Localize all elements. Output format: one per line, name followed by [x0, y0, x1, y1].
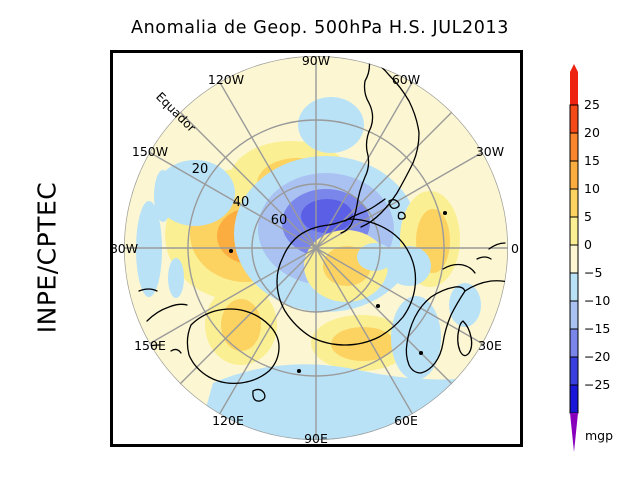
colorbar-tick-20: 20	[584, 125, 600, 140]
lon-label-60E: 60E	[394, 413, 418, 428]
colorbar-tick-0: 0	[584, 237, 592, 252]
lat-label-40: 40	[233, 195, 250, 210]
colorbar-tick-15: 15	[584, 153, 600, 168]
page-title: Anomalia de Geop. 500hPa H.S. JUL2013	[0, 18, 640, 38]
lat-label-20: 20	[192, 162, 209, 177]
colorbar-tick-m5: −5	[584, 265, 602, 280]
lon-label-30E: 30E	[478, 338, 502, 353]
colorbar-svg: 25 20 15 10 5 0 −5 −10 −15 −20 −25	[560, 60, 640, 460]
colorbar-tick-m25: −25	[584, 377, 610, 392]
colorbar-tick-labels: 25 20 15 10 5 0 −5 −10 −15 −20 −25	[584, 97, 610, 392]
colorbar-unit-label: mgp	[585, 428, 613, 443]
anomaly-negative-southeast-pacific	[298, 97, 364, 153]
screenshot-root: Anomalia de Geop. 500hPa H.S. JUL2013 IN…	[0, 0, 640, 494]
colorbar-tick-25: 25	[584, 97, 600, 112]
lon-label-150W: 150W	[132, 144, 168, 159]
lon-label-60W: 60W	[392, 72, 420, 87]
colorbar-tick-5: 5	[584, 209, 592, 224]
lon-label-180W: 180W	[113, 241, 138, 256]
lat-label-60: 60	[271, 213, 288, 228]
lon-label-120W: 120W	[208, 72, 244, 87]
colorbar: 25 20 15 10 5 0 −5 −10 −15 −20 −25	[560, 60, 640, 460]
colorbar-tick-m15: −15	[584, 321, 610, 336]
polar-stereographic-map: 90W 120W 150W 180W 150E 120E 90E 60E 30E…	[113, 53, 520, 444]
lon-label-120E: 120E	[212, 413, 244, 428]
colorbar-extend-bottom	[570, 413, 578, 452]
colorbar-tick-10: 10	[584, 181, 600, 196]
lon-label-0: 0	[511, 241, 519, 256]
colorbar-tick-m20: −20	[584, 349, 610, 364]
lon-label-90W: 90W	[302, 53, 330, 68]
agency-label: INPE/CPTEC	[33, 138, 62, 378]
map-plot-frame: 90W 120W 150W 180W 150E 120E 90E 60E 30E…	[110, 50, 523, 447]
lon-label-150E: 150E	[134, 338, 166, 353]
colorbar-tick-m10: −10	[584, 293, 610, 308]
colorbar-bands	[570, 105, 578, 413]
lon-label-90E: 90E	[304, 431, 328, 444]
lon-label-30W: 30W	[476, 144, 504, 159]
